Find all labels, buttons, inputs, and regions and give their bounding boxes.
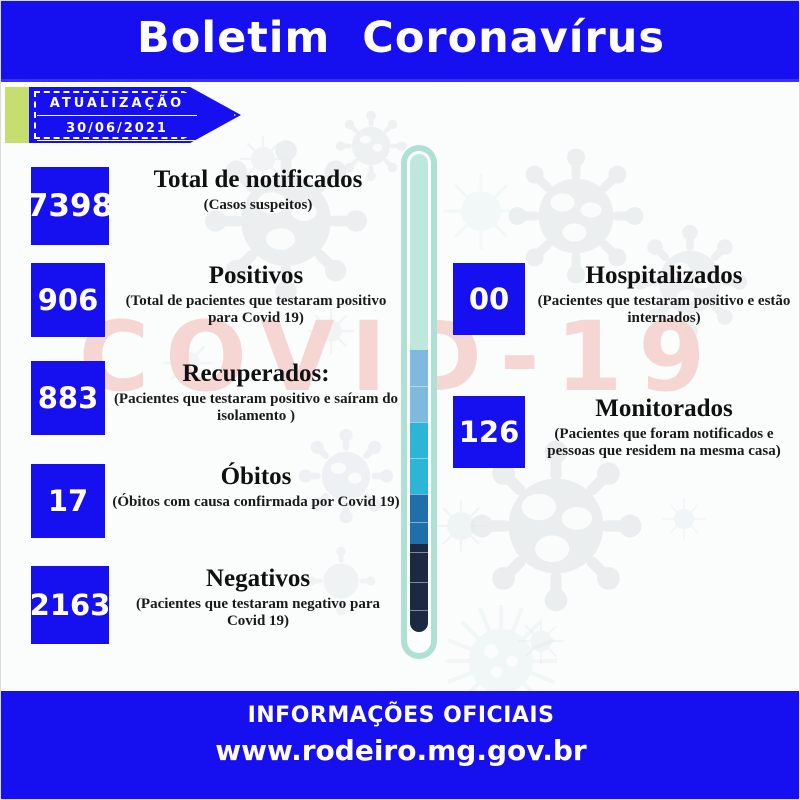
stat-negativos: 2163 Negativos (Pacientes que testaram n…	[31, 566, 401, 644]
header-underline	[1, 79, 800, 82]
stat-value: 126	[459, 415, 520, 449]
stat-text-block: Positivos (Total de pacientes que testar…	[105, 263, 401, 328]
thermometer-segment	[410, 350, 428, 422]
thermometer-segment	[410, 154, 428, 350]
stat-text-block: Hospitalizados (Pacientes que testaram p…	[525, 263, 797, 328]
stat-value: 883	[38, 381, 99, 415]
stat-sublabel: (Pacientes que foram notificados e pesso…	[531, 426, 797, 461]
stat-sublabel: (Óbitos com causa confirmada por Covid 1…	[111, 494, 401, 512]
stat-value-box: 2163	[31, 566, 109, 644]
stat-value-box: 00	[453, 263, 525, 335]
stat-label: Hospitalizados	[531, 263, 797, 290]
stat-sublabel: (Pacientes que testaram positivo e estão…	[531, 293, 797, 328]
stat-label: Negativos	[115, 566, 401, 593]
stat-sublabel: (Pacientes que testaram positivo e saíra…	[111, 391, 401, 426]
stat-monitorados: 126 Monitorados (Pacientes que foram not…	[453, 396, 797, 468]
stat-text-block: Negativos (Pacientes que testaram negati…	[109, 566, 401, 631]
page-title: Boletim Coronavírus	[1, 1, 800, 79]
footer-official-info-label: INFORMAÇÕES OFICIAIS	[201, 703, 601, 728]
thermometer-segment	[410, 544, 428, 632]
stat-positivos: 906 Positivos (Total de pacientes que te…	[31, 263, 401, 337]
update-accent-bar	[5, 87, 31, 143]
stat-value-box: 126	[453, 396, 525, 468]
stat-obitos: 17 Óbitos (Óbitos com causa confirmada p…	[31, 464, 401, 538]
stat-label: Recuperados:	[111, 361, 401, 388]
stat-label: Positivos	[111, 263, 401, 290]
stat-recuperados: 883 Recuperados: (Pacientes que testaram…	[31, 361, 401, 435]
stat-value: 00	[469, 282, 509, 316]
footer-bar: INFORMAÇÕES OFICIAIS www.rodeiro.mg.gov.…	[1, 691, 800, 800]
footer-website-link[interactable]: www.rodeiro.mg.gov.br	[201, 734, 601, 767]
stat-text-block: Total de notificados (Casos suspeitos)	[109, 167, 401, 214]
covid-bulletin-poster: COVID-19 Boletim Coronavírus ATUALIZAÇÃO…	[0, 0, 800, 800]
virus-icon	[656, 491, 712, 547]
stat-value-box: 883	[31, 361, 105, 435]
stat-value-box: 17	[31, 464, 105, 538]
update-date: 30/06/2021	[37, 118, 197, 141]
footer-info-block: INFORMAÇÕES OFICIAIS www.rodeiro.mg.gov.…	[201, 703, 601, 767]
stat-sublabel: (Casos suspeitos)	[115, 197, 401, 215]
stat-value-box: 906	[31, 263, 105, 337]
stat-sublabel: (Total de pacientes que testaram positiv…	[111, 293, 401, 328]
stat-label: Total de notificados	[115, 167, 401, 194]
update-banner: ATUALIZAÇÃO 30/06/2021	[5, 87, 241, 143]
stat-value: 2163	[30, 588, 111, 622]
stat-value: 7398	[27, 188, 113, 224]
stat-value-box: 7398	[31, 167, 109, 245]
header-bar: Boletim Coronavírus	[1, 1, 800, 79]
thermometer-segment	[410, 494, 428, 544]
thermometer-segment	[410, 422, 428, 494]
update-arrow-shape: ATUALIZAÇÃO 30/06/2021	[29, 87, 241, 143]
stat-label: Óbitos	[111, 464, 401, 491]
stat-total-notificados: 7398 Total de notificados (Casos suspeit…	[31, 167, 401, 245]
stat-label: Monitorados	[531, 396, 797, 423]
update-text: ATUALIZAÇÃO 30/06/2021	[37, 93, 197, 141]
stat-text-block: Óbitos (Óbitos com causa confirmada por …	[105, 464, 401, 511]
stat-text-block: Recuperados: (Pacientes que testaram pos…	[105, 361, 401, 426]
thermometer-graphic	[401, 145, 437, 659]
stat-hospitalizados: 00 Hospitalizados (Pacientes que testara…	[453, 263, 797, 335]
thermometer-fill-tube	[410, 154, 428, 632]
update-label: ATUALIZAÇÃO	[37, 93, 197, 116]
stat-value: 906	[38, 283, 99, 317]
stat-value: 17	[48, 484, 88, 518]
virus-icon	[431, 161, 531, 261]
stat-sublabel: (Pacientes que testaram negativo para Co…	[115, 596, 401, 631]
stat-text-block: Monitorados (Pacientes que foram notific…	[525, 396, 797, 461]
virus-icon	[511, 611, 571, 671]
